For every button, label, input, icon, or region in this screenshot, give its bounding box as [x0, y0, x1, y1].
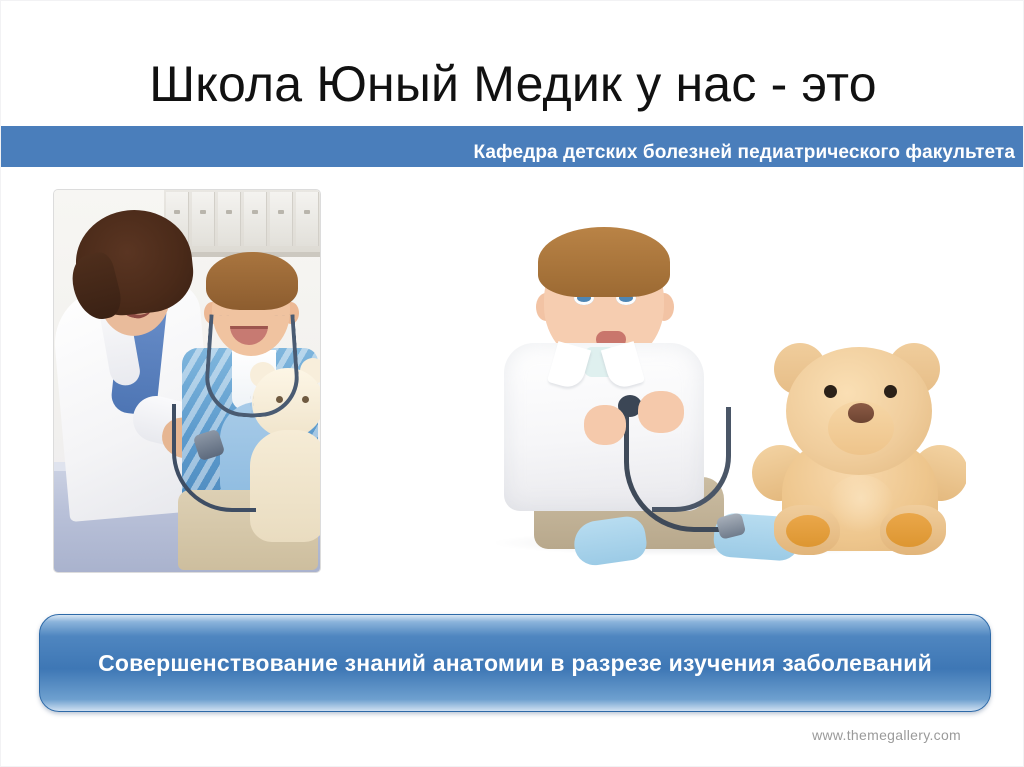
baby-hand-left — [584, 405, 626, 445]
baby-doctor-with-teddy-bear-photo — [456, 219, 966, 574]
watermark-url: www.themegallery.com — [812, 727, 961, 743]
plush-toy-body — [250, 430, 321, 542]
binder — [296, 192, 319, 246]
presentation-slide: Школа Юный Медик у нас - это Кафедра дет… — [0, 0, 1024, 767]
left-photo-scene — [54, 190, 320, 572]
binder — [218, 192, 241, 246]
binder — [244, 192, 267, 246]
teddy-bear-paw-pad-left — [786, 515, 830, 547]
doctor-examining-boy-photo — [53, 189, 321, 573]
right-photo-scene — [456, 219, 966, 574]
teddy-bear-eye-right — [884, 385, 897, 398]
caption-button[interactable]: Совершенствование знаний анатомии в разр… — [39, 614, 991, 712]
baby-hair — [538, 227, 670, 297]
binder — [192, 192, 215, 246]
teddy-bear-nose — [848, 403, 874, 423]
boy-hair — [206, 252, 298, 310]
teddy-bear-paw-pad-right — [886, 513, 932, 547]
binder — [270, 192, 293, 246]
department-banner-label: Кафедра детских болезней педиатрического… — [473, 141, 1015, 165]
teddy-bear-eye-left — [824, 385, 837, 398]
plush-toy-eye-right — [302, 396, 309, 403]
page-title: Школа Юный Медик у нас - это — [1, 53, 1024, 115]
caption-button-label: Совершенствование знаний анатомии в разр… — [58, 647, 972, 680]
baby-hand-right — [638, 391, 684, 433]
department-banner: Кафедра детских болезней педиатрического… — [1, 126, 1024, 167]
